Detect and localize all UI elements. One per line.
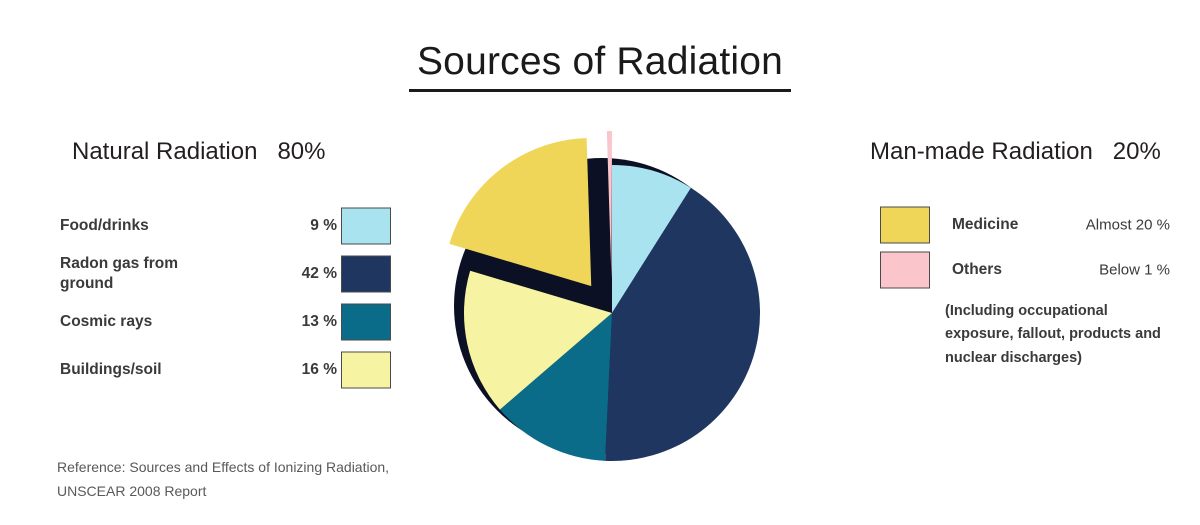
legend-label: Buildings/soil bbox=[60, 360, 250, 380]
page-title: Sources of Radiation bbox=[409, 42, 791, 92]
manmade-radiation-heading: Man-made Radiation 20% bbox=[870, 138, 1161, 166]
natural-radiation-heading: Natural Radiation 80% bbox=[72, 138, 325, 166]
legend-color-swatch bbox=[341, 256, 391, 293]
manmade-radiation-legend: Medicine Almost 20 % Others Below 1 % bbox=[880, 202, 1180, 292]
legend-item-food-drinks[interactable]: Food/drinks 9 % bbox=[60, 202, 392, 250]
legend-value: Almost 20 % bbox=[1030, 216, 1170, 233]
legend-label: Cosmic rays bbox=[60, 312, 250, 332]
legend-item-medicine[interactable]: Medicine Almost 20 % bbox=[880, 202, 1180, 247]
legend-item-others[interactable]: Others Below 1 % bbox=[880, 247, 1180, 292]
legend-value: 13 % bbox=[275, 313, 337, 331]
legend-color-swatch bbox=[880, 251, 930, 288]
legend-value: Below 1 % bbox=[1030, 261, 1170, 278]
legend-color-swatch bbox=[341, 352, 391, 389]
legend-color-swatch bbox=[880, 206, 930, 243]
manmade-others-note: (Including occupational exposure, fallou… bbox=[945, 300, 1180, 370]
legend-item-radon-gas[interactable]: Radon gas from ground 42 % bbox=[60, 250, 392, 298]
legend-label: Medicine bbox=[952, 216, 1018, 234]
natural-radiation-legend: Food/drinks 9 % Radon gas from ground 42… bbox=[60, 202, 392, 394]
legend-color-swatch bbox=[341, 304, 391, 341]
legend-item-buildings-soil[interactable]: Buildings/soil 16 % bbox=[60, 346, 392, 394]
legend-value: 42 % bbox=[275, 265, 337, 283]
pie-chart bbox=[395, 120, 865, 490]
legend-label: Radon gas from ground bbox=[60, 254, 250, 294]
legend-label: Others bbox=[952, 261, 1002, 279]
legend-item-cosmic-rays[interactable]: Cosmic rays 13 % bbox=[60, 298, 392, 346]
legend-label: Food/drinks bbox=[60, 216, 250, 236]
legend-value: 16 % bbox=[275, 361, 337, 379]
legend-color-swatch bbox=[341, 208, 391, 245]
title-container: Sources of Radiation bbox=[0, 42, 1200, 92]
legend-value: 9 % bbox=[275, 217, 337, 235]
